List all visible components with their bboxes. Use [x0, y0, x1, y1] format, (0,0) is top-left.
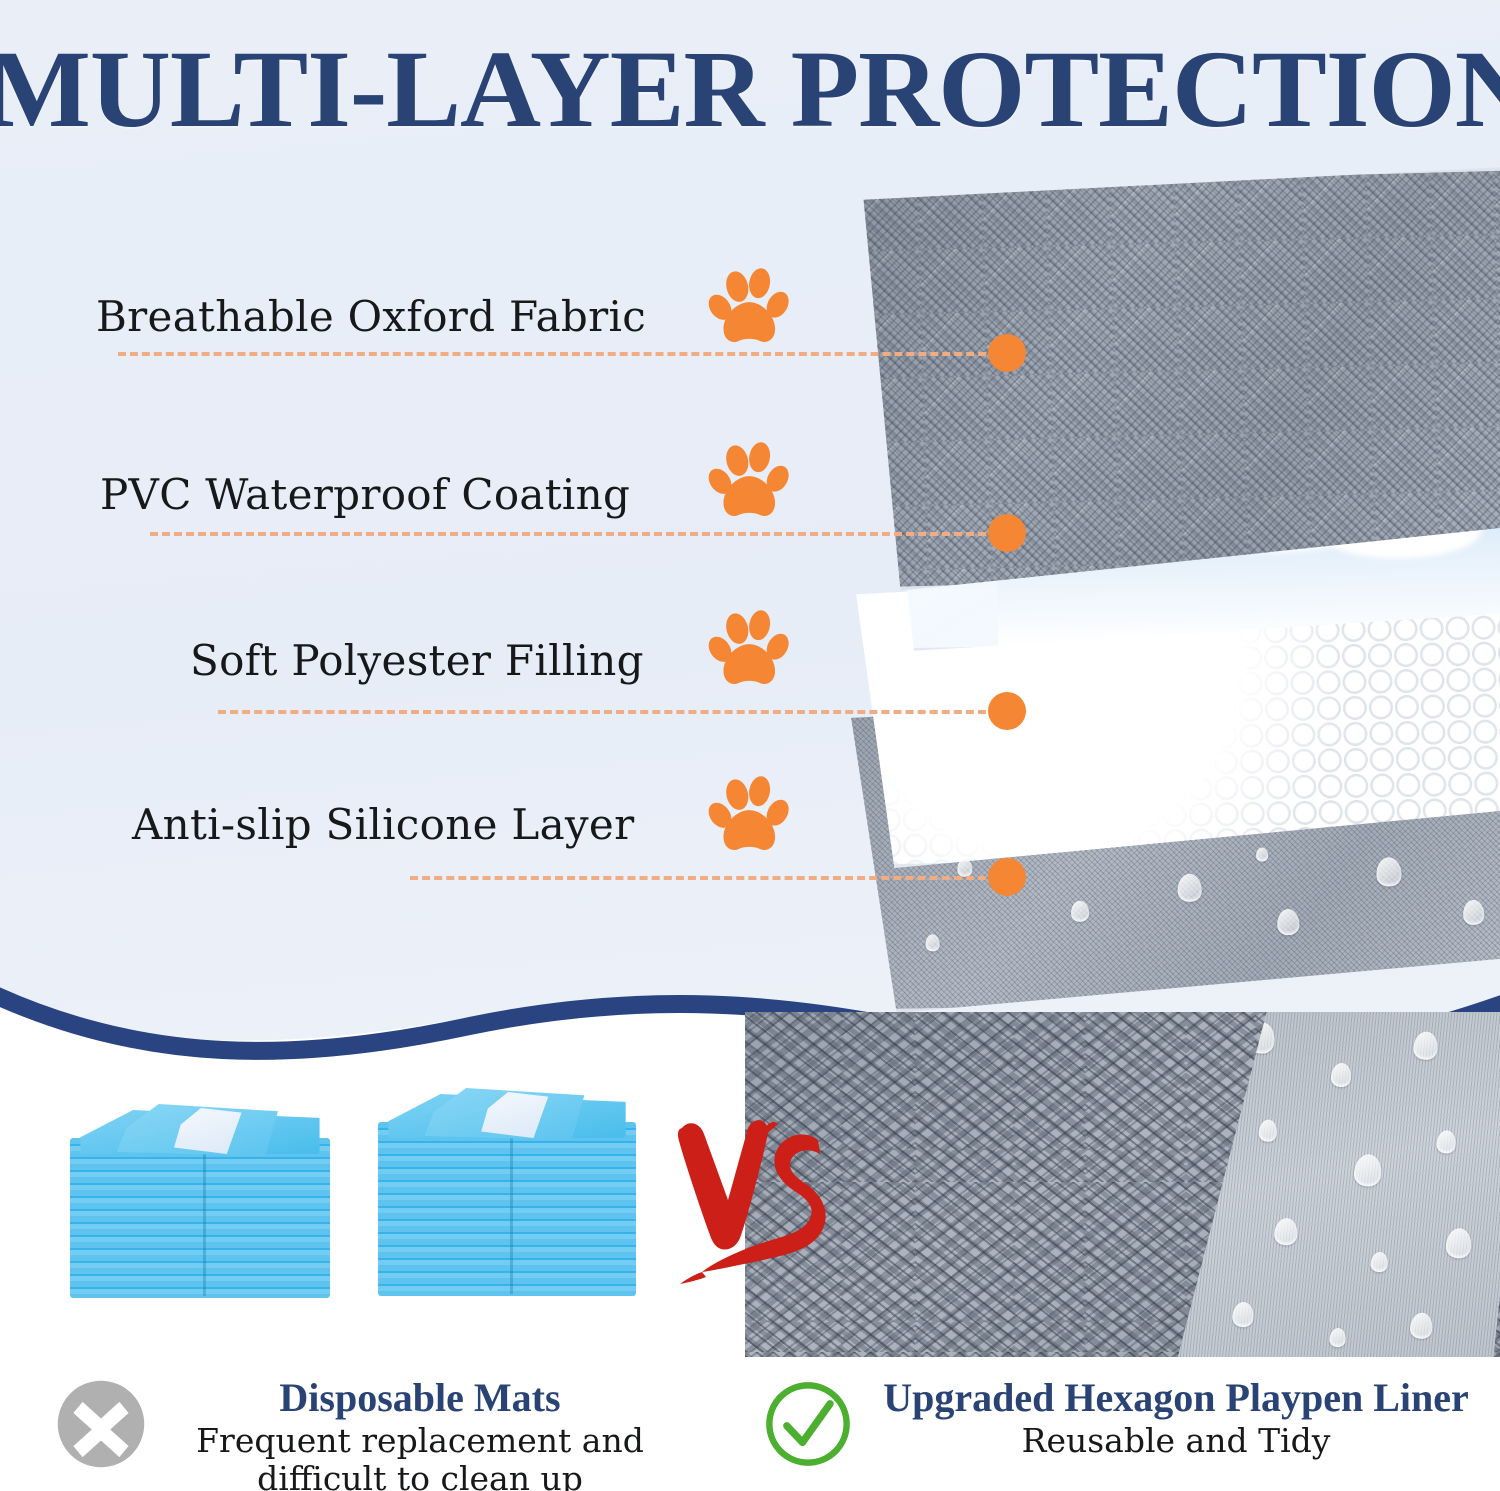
leader-line-filling: [218, 710, 998, 714]
infographic-root: MULTI-LAYER PROTECTION: [0, 0, 1500, 1491]
marker-dot-silicone: [988, 858, 1026, 896]
leader-line-oxford: [118, 352, 998, 356]
comparison-left-subtitle: Frequent replacement and difficult to cl…: [165, 1422, 675, 1491]
product-photo-quilted-liner: [745, 1012, 1500, 1357]
layer-label-oxford: Breathable Oxford Fabric: [96, 292, 646, 341]
layer-label-filling: Soft Polyester Filling: [190, 636, 644, 685]
marker-dot-filling: [988, 692, 1026, 730]
paw-icon: [708, 440, 794, 526]
layer-label-pvc: PVC Waterproof Coating: [100, 470, 630, 519]
layer-stack-illustration: [0, 0, 1500, 1060]
x-circle-icon: [55, 1378, 147, 1470]
paw-icon: [708, 608, 794, 694]
layer-label-silicone: Anti-slip Silicone Layer: [132, 800, 634, 849]
disposable-pad-stack-left: [70, 1110, 330, 1298]
paw-icon: [708, 266, 794, 352]
marker-dot-pvc: [988, 514, 1026, 552]
comparison-right-subtitle: Reusable and Tidy: [870, 1422, 1482, 1460]
check-circle-icon: [762, 1378, 854, 1470]
comparison-left: Disposable Mats Frequent replacement and…: [55, 1378, 675, 1488]
comparison-right-title: Upgraded Hexagon Playpen Liner: [870, 1374, 1482, 1421]
leader-line-pvc: [150, 532, 998, 536]
marker-dot-oxford: [988, 334, 1026, 372]
disposable-pad-stack-right: [378, 1094, 636, 1296]
oxford-fabric-sheet: [850, 166, 1500, 591]
leader-line-silicone: [410, 876, 998, 880]
vs-label: VS: [668, 1112, 843, 1297]
paw-icon: [708, 774, 794, 860]
comparison-left-title: Disposable Mats: [165, 1374, 675, 1421]
comparison-right: Upgraded Hexagon Playpen Liner Reusable …: [762, 1378, 1482, 1488]
